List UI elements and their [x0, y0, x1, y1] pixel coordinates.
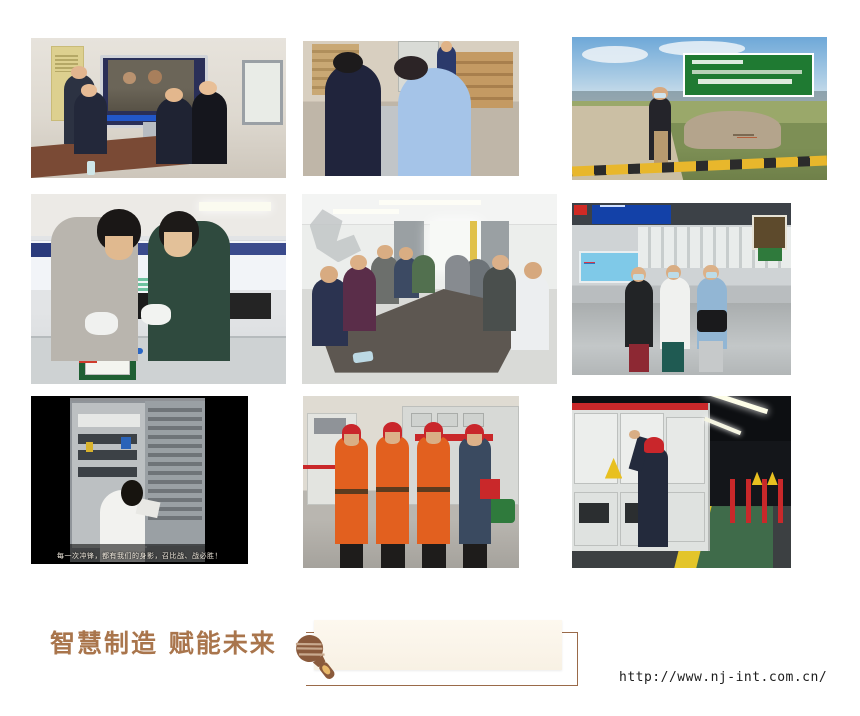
engineer-left-face: [105, 236, 133, 261]
white-glove-left: [85, 312, 118, 335]
person-2-body: [74, 91, 107, 154]
yellow-indicator: [86, 442, 93, 452]
flight-information-board: [592, 205, 671, 224]
video-frame: [70, 398, 205, 563]
inspector-hand: [629, 430, 640, 439]
suitcase-green: [662, 342, 684, 371]
attendee-right-2-body: [483, 266, 516, 331]
cloud-left: [582, 46, 648, 63]
worker-3-face: [426, 432, 441, 444]
photo-cabinet-technician[interactable]: 每一次冲锋，都有我们的身影，召比战、战必胜！: [31, 396, 248, 564]
person-3-body: [156, 97, 194, 164]
white-glove-right: [141, 304, 172, 325]
attendee-left-3-head: [377, 245, 392, 258]
switchgear-top-band: [572, 403, 708, 410]
red-tool-case: [480, 479, 499, 500]
signboard-chinese-line: [698, 79, 792, 84]
advert-poster-right: [752, 215, 787, 250]
project-signboard: [683, 53, 815, 97]
traveler-1-body: [625, 279, 653, 348]
remote-participant-a: [123, 72, 136, 85]
microphone-icon: [288, 630, 346, 686]
photo-airport-departure[interactable]: [572, 203, 791, 375]
attendee-left-5-body: [412, 255, 435, 293]
advert-panel-green: [758, 248, 782, 262]
wall-logo-red: [574, 205, 587, 215]
traveler-2-mask: [668, 272, 679, 278]
suitcase-silver: [699, 341, 723, 372]
switchgear-panel-3: [666, 417, 705, 484]
worker-2-face: [385, 432, 400, 444]
signboard-khmer-line: [692, 70, 802, 74]
blue-module: [121, 437, 130, 449]
attendee-left-1-head: [320, 266, 338, 283]
traveler-3-mask: [706, 272, 717, 278]
banner-plate: [314, 620, 562, 670]
website-url[interactable]: http://www.nj-int.com.cn/: [619, 670, 827, 685]
photo-video-conference[interactable]: [31, 38, 286, 178]
attendee-right-2-head: [492, 255, 509, 270]
worker-4-face: [467, 434, 482, 446]
rock-text-green: [733, 134, 754, 136]
water-bottle: [87, 161, 95, 175]
worker-3-belt: [417, 487, 449, 492]
whiteboard: [242, 60, 284, 125]
technician-head: [121, 480, 143, 506]
photo-gallery: 每一次冲锋，都有我们的身影，召比战、战必胜！: [0, 0, 860, 600]
ceiling-light-center: [379, 200, 481, 206]
attendee-right-1-body: [511, 274, 549, 350]
inspector-helmet: [644, 437, 664, 452]
advert-subline: [584, 263, 595, 264]
traveler-2-body: [660, 277, 691, 349]
switchgear-door-3: [666, 492, 705, 542]
photo-switchgear-inspection[interactable]: [572, 396, 791, 568]
photo-warehouse-packing[interactable]: [303, 41, 519, 176]
ceiling-light: [199, 202, 270, 212]
visitor-face-mask: [654, 93, 667, 98]
attendee-left-2-body: [343, 266, 376, 331]
worker-left-body: [325, 63, 381, 176]
photo-solar-green-sign[interactable]: [572, 37, 827, 180]
person-2-head: [81, 84, 98, 97]
inspection-window-1: [579, 503, 610, 524]
terminal-row-3: [78, 467, 137, 477]
breaker-row: [78, 414, 140, 427]
photo-engineers-workbench[interactable]: [31, 194, 286, 384]
signboard-logo: [692, 60, 743, 64]
attendee-left-2-head: [350, 255, 367, 270]
photo-orange-crew[interactable]: [303, 396, 519, 568]
video-caption: 每一次冲锋，都有我们的身影，召比战、战必胜！: [31, 551, 248, 561]
suitcase-red: [629, 344, 649, 372]
ceiling-light-left: [333, 209, 399, 214]
slogan-banner: [288, 620, 578, 686]
shoulder-bag: [697, 310, 728, 332]
worker-right-body: [398, 68, 471, 176]
monitor-right: [230, 293, 271, 320]
person-1-head: [71, 66, 88, 79]
rock-text-sub: [737, 137, 756, 138]
worker-1-face: [344, 434, 359, 446]
attendee-left-4-head: [399, 247, 413, 259]
engineer-right-face: [164, 232, 192, 257]
green-rock: [684, 111, 781, 148]
advert-lightbox-left: [579, 251, 640, 283]
photo-conference-meeting[interactable]: [302, 194, 557, 384]
background-worker-head: [441, 41, 452, 52]
traveler-1-mask: [633, 274, 644, 280]
person-4-body: [192, 91, 228, 164]
banner-headline: 智慧制造 赋能未来: [50, 624, 280, 660]
worker-1-belt: [335, 489, 367, 494]
worker-2-belt: [376, 487, 408, 492]
